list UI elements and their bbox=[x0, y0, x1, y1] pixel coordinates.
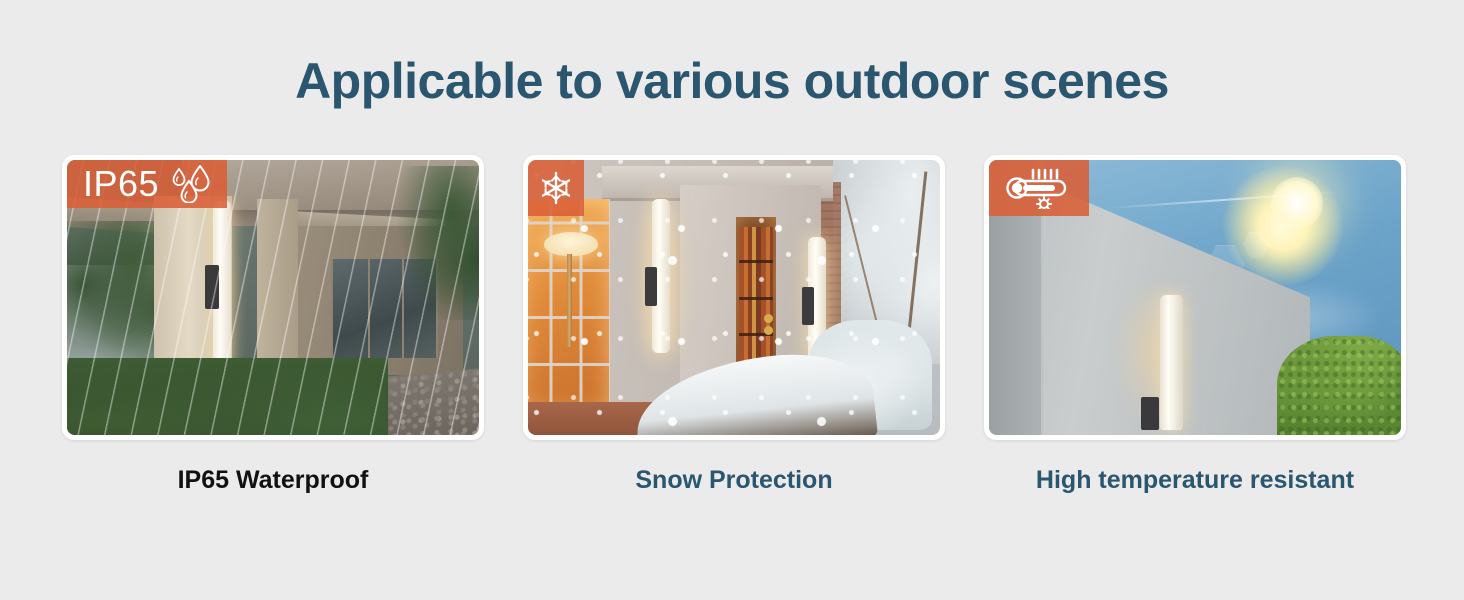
feature-card-list: IP65 IP65 Waterproof bbox=[62, 155, 1406, 495]
scene-image-snow bbox=[528, 160, 940, 435]
badge-label: IP65 bbox=[83, 166, 159, 202]
page-title: Applicable to various outdoor scenes bbox=[0, 52, 1464, 110]
card-caption: Snow Protection bbox=[635, 466, 832, 495]
photo-frame bbox=[523, 155, 945, 440]
card-caption: IP65 Waterproof bbox=[178, 466, 369, 495]
water-drop-icon bbox=[167, 165, 213, 203]
badge-snowflake bbox=[528, 160, 584, 216]
badge-high-temperature bbox=[989, 160, 1089, 216]
photo-frame: IP65 bbox=[62, 155, 484, 440]
badge-ip65: IP65 bbox=[67, 160, 227, 208]
promo-banner: Applicable to various outdoor scenes bbox=[0, 0, 1464, 600]
scene-image-rain: IP65 bbox=[67, 160, 479, 435]
photo-frame bbox=[984, 155, 1406, 440]
feature-card-high-temperature[interactable]: High temperature resistant bbox=[984, 155, 1406, 495]
snowflake-icon bbox=[539, 171, 573, 205]
wall-lamp-fixture bbox=[1160, 295, 1183, 430]
feature-card-snow-protection[interactable]: Snow Protection bbox=[523, 155, 945, 495]
scene-image-sun bbox=[989, 160, 1401, 435]
feature-card-ip65-waterproof[interactable]: IP65 IP65 Waterproof bbox=[62, 155, 484, 495]
thermometer-sun-icon bbox=[1003, 167, 1075, 209]
card-caption: High temperature resistant bbox=[1036, 466, 1354, 495]
